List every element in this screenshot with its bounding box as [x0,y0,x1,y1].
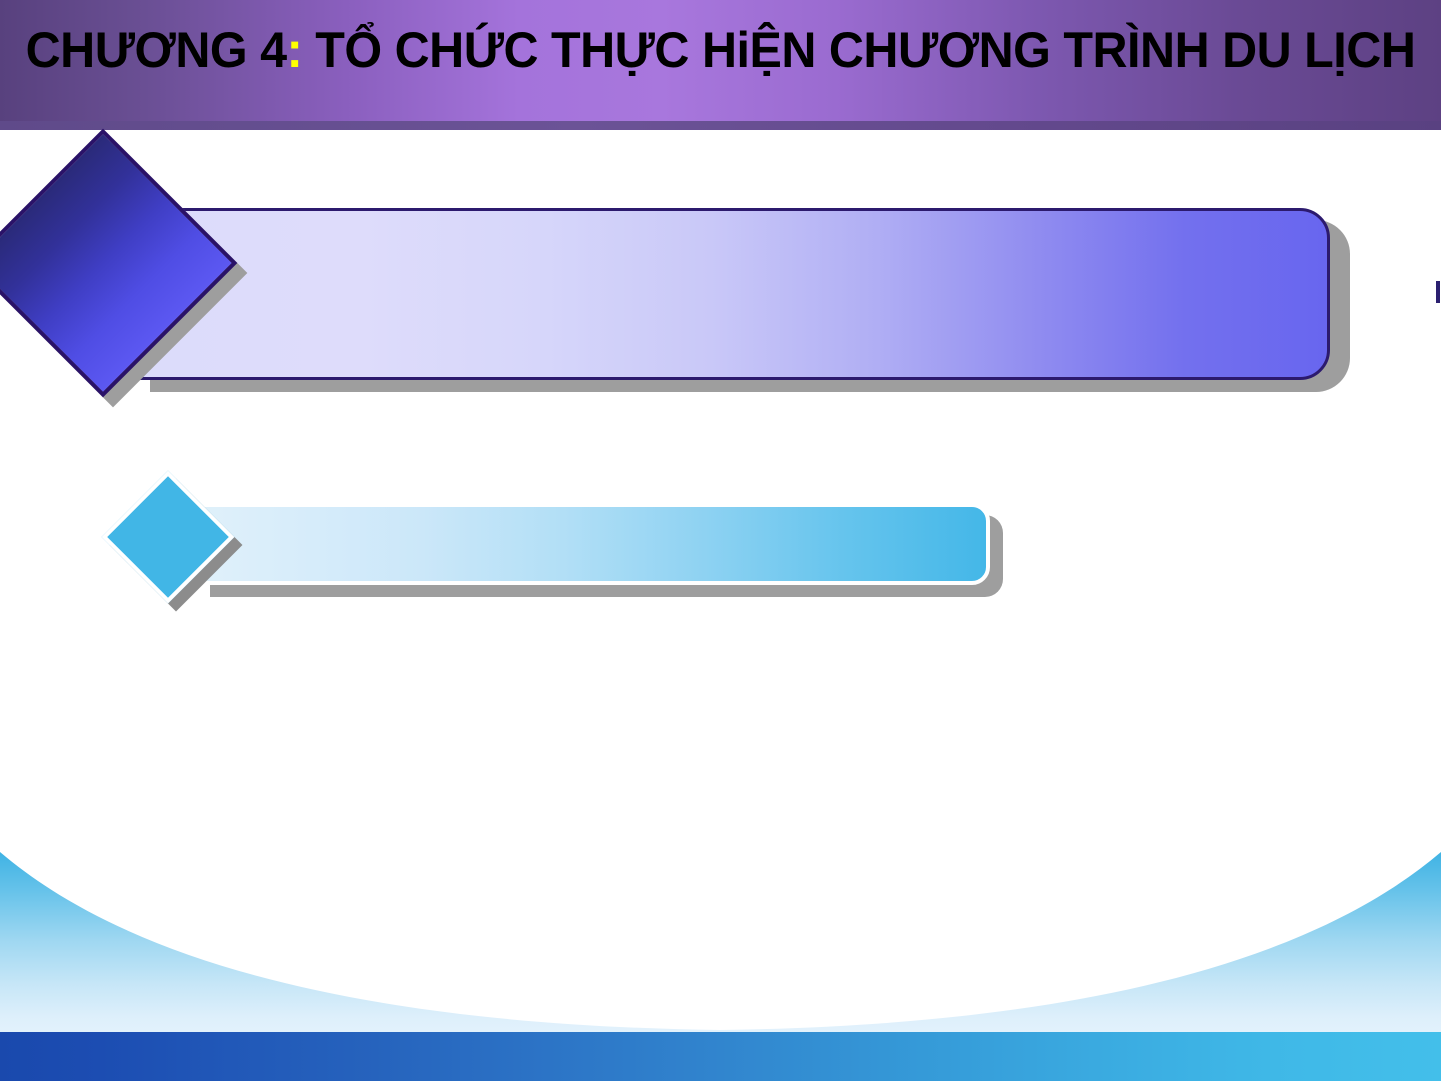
slide-canvas: CHƯƠNG 4: TỔ CHỨC THỰC HiỆN CHƯƠNG TRÌNH… [0,0,1441,1081]
footer-wave-shape [0,852,1441,1035]
primary-content-text [373,211,1287,377]
page-title-suffix: TỔ CHỨC THỰC HiỆN CHƯƠNG TRÌNH DU LỊCH [302,22,1415,78]
page-title-prefix: CHƯƠNG 4 [26,22,287,78]
footer-wave-decoration [0,840,1441,1035]
page-title: CHƯƠNG 4: TỔ CHỨC THỰC HiỆN CHƯƠNG TRÌNH… [22,20,1420,80]
secondary-content-banner[interactable] [200,503,990,585]
slide-title-underline [0,121,1441,130]
primary-content-banner[interactable] [140,208,1330,380]
secondary-content-text [284,507,966,581]
page-title-colon: : [287,22,303,78]
offslide-edge-marker [1436,281,1440,303]
footer-bottom-bar [0,1032,1441,1081]
